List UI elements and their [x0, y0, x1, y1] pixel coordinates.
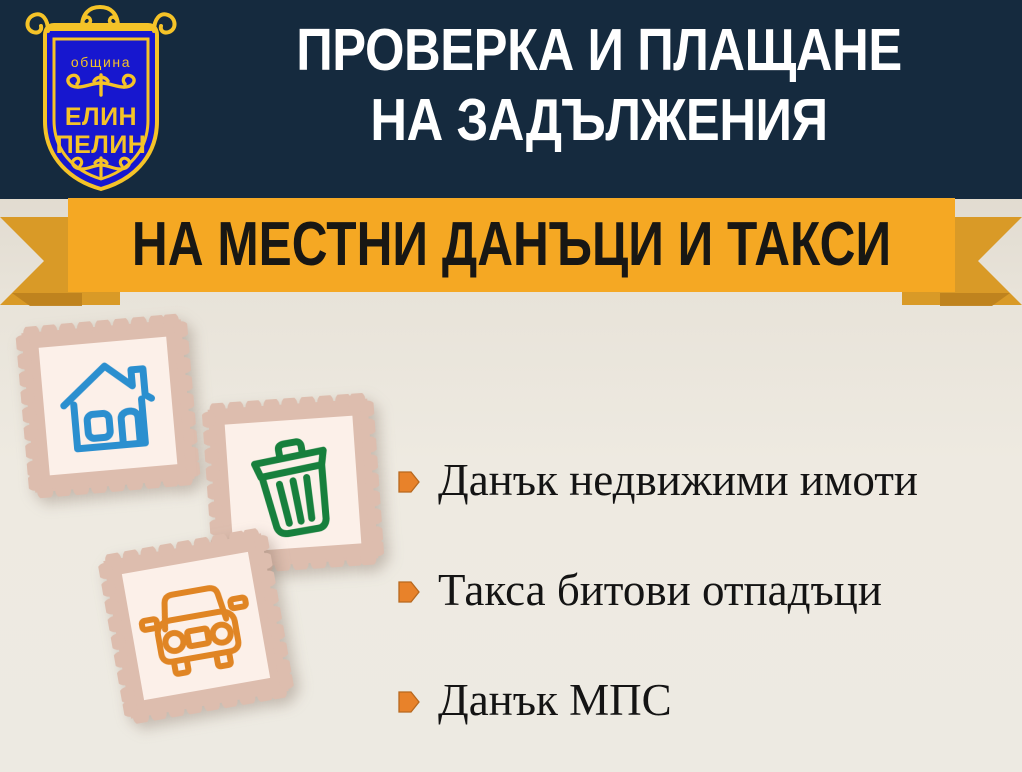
list-item[interactable]: Такса битови отпадъци [398, 535, 1008, 645]
municipality-logo: община ЕЛИН ПЕЛИН [18, 3, 184, 195]
list-item[interactable]: Данък МПС [398, 645, 1008, 755]
list-item-label: Данък недвижими имоти [438, 458, 918, 503]
arrow-right-bullet-icon [398, 689, 420, 715]
arrow-right-bullet-icon [398, 469, 420, 495]
ribbon-band: НА МЕСТНИ ДАНЪЦИ И ТАКСИ [68, 198, 955, 292]
page-title: ПРОВЕРКА И ПЛАЩАНЕ НА ЗАДЪЛЖЕНИЯ [244, 16, 954, 155]
logo-name-line2: ПЕЛИН [56, 131, 147, 159]
page-title-line-2: НА ЗАДЪЛЖЕНИЯ [244, 86, 954, 156]
subtitle-ribbon: НА МЕСТНИ ДАНЪЦИ И ТАКСИ [0, 190, 1022, 320]
logo-top-text: община [71, 54, 131, 70]
list-item-label: Такса битови отпадъци [438, 568, 882, 613]
stamp-frame [15, 313, 201, 499]
logo-name-line1: ЕЛИН [65, 103, 137, 131]
ribbon-label: НА МЕСТНИ ДАНЪЦИ И ТАКСИ [132, 214, 891, 276]
poster-root: община ЕЛИН ПЕЛИН [0, 0, 1022, 772]
list-item[interactable]: Данък недвижими имоти [398, 425, 1008, 535]
arrow-right-bullet-icon [398, 579, 420, 605]
house-stamp-card [15, 313, 201, 499]
car-stamp-card [96, 526, 295, 725]
header-bar: община ЕЛИН ПЕЛИН [0, 0, 1022, 199]
stamp-frame [96, 526, 295, 725]
page-title-line-1: ПРОВЕРКА И ПЛАЩАНЕ [296, 17, 902, 83]
tax-types-list: Данък недвижими имоти Такса битови отпад… [398, 425, 1008, 755]
list-item-label: Данък МПС [438, 678, 672, 723]
